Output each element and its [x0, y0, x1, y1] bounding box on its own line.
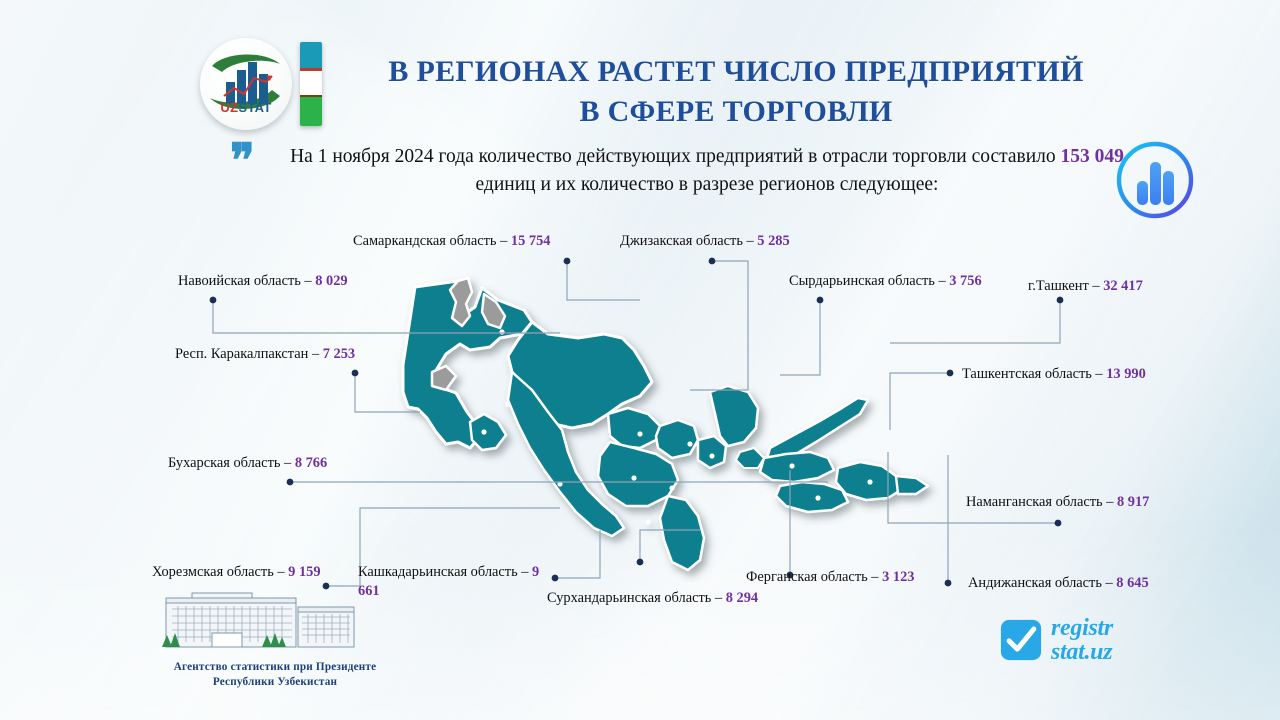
label-navoi-name: Навоийская область: [178, 273, 301, 289]
label-tashkent-region-name: Ташкентская область: [962, 366, 1092, 382]
label-namangan-dash: –: [1103, 494, 1117, 510]
label-khorezm-dash: –: [274, 564, 288, 580]
label-surkhandarya-name: Сурхандарьинская область: [547, 590, 711, 606]
connector-dot-jizzakh: [709, 258, 716, 265]
label-andijan-name: Андижанская область: [968, 575, 1102, 591]
label-tashkent-city-name: г.Ташкент: [1028, 278, 1089, 294]
label-tashkent-city-dash: –: [1089, 278, 1103, 294]
label-fergana-value: 3 123: [882, 569, 914, 585]
map-region-jizzakh: [656, 420, 698, 458]
agency-building-icon: [150, 585, 400, 653]
map-region-eastern-tip: [896, 476, 928, 494]
label-jizzakh-name: Джизакская область: [620, 233, 743, 249]
map-region-syrdarya: [698, 436, 726, 468]
page-title-line-2: В СФЕРЕ ТОРГОВЛИ: [336, 92, 1136, 132]
label-andijan-value: 8 645: [1116, 575, 1148, 591]
connector-dot-bukhara: [287, 479, 294, 486]
uzstat-logo-text-stat: STAT: [238, 100, 271, 115]
label-andijan-dash: –: [1102, 575, 1116, 591]
map-region-samarkand: [608, 408, 660, 448]
label-tashkent-city-value: 32 417: [1103, 278, 1143, 294]
flag-stripe-blue: [300, 42, 322, 68]
label-khorezm-name: Хорезмская область: [152, 564, 274, 580]
label-syrdarya: Сырдарьинская область – 3 756: [789, 272, 982, 291]
subtitle-text: На 1 ноября 2024 года количество действу…: [230, 143, 1140, 199]
subtitle-part-2: единиц и их количество в разрезе регионо…: [476, 174, 939, 195]
label-kashkadarya-dash: –: [518, 564, 532, 580]
label-syrdarya-value: 3 756: [949, 273, 981, 289]
checkmark-icon: [1000, 619, 1042, 661]
label-bukhara-name: Бухарская область: [168, 455, 280, 471]
label-tashkent-city: г.Ташкент – 32 417: [1028, 277, 1143, 296]
label-syrdarya-dash: –: [935, 273, 949, 289]
uzstat-logo-text-uz: UZ: [220, 100, 238, 115]
label-samarkand: Самаркандская область – 15 754: [353, 232, 550, 251]
label-samarkand-dash: –: [497, 233, 511, 249]
label-namangan: Наманганская область – 8 917: [966, 493, 1149, 512]
label-jizzakh-dash: –: [743, 233, 757, 249]
label-bukhara-value: 8 766: [295, 455, 327, 471]
label-karakalpakstan-value: 7 253: [323, 346, 355, 362]
label-fergana: Ферганская область – 3 123: [746, 568, 914, 587]
uzstat-logo-icon: [200, 38, 292, 130]
label-jizzakh: Джизакская область – 5 285: [620, 232, 790, 251]
label-bukhara: Бухарская область – 8 766: [168, 454, 327, 473]
label-khorezm: Хорезмская область – 9 159: [152, 563, 321, 582]
uzstat-logo-disc: [200, 38, 292, 130]
registrstat-logo[interactable]: registr stat.uz: [1000, 616, 1113, 665]
label-surkhandarya-dash: –: [711, 590, 725, 606]
map-region-tashkent-city: [736, 448, 764, 468]
map-region-fergana: [776, 482, 848, 512]
agency-caption: Агентство статистики при Президенте Респ…: [150, 660, 400, 690]
map-region-surkhandarya: [660, 496, 704, 570]
agency-logo-block: Агентство статистики при Президенте Респ…: [150, 585, 400, 690]
registrstat-line-1: registr: [1051, 616, 1113, 640]
registrstat-text: registr stat.uz: [1051, 616, 1113, 665]
flag-stripe-white: [300, 71, 322, 95]
uzstat-logo: UZSTAT: [200, 38, 292, 130]
page-title: В РЕГИОНАХ РАСТЕТ ЧИСЛО ПРЕДПРИЯТИЙ В СФ…: [336, 52, 1136, 132]
label-namangan-value: 8 917: [1117, 494, 1149, 510]
label-navoi: Навоийская область – 8 029: [178, 272, 348, 291]
label-jizzakh-value: 5 285: [757, 233, 789, 249]
label-samarkand-name: Самаркандская область: [353, 233, 497, 249]
agency-caption-line-2: Республики Узбекистан: [150, 675, 400, 690]
label-khorezm-value: 9 159: [288, 564, 320, 580]
connector-dot-samarkand: [564, 258, 571, 265]
label-andijan: Андижанская область – 8 645: [968, 574, 1149, 593]
label-surkhandarya-value: 8 294: [726, 590, 758, 606]
label-bukhara-dash: –: [280, 455, 294, 471]
map-region-khorezm: [470, 414, 506, 450]
label-namangan-name: Наманганская область: [966, 494, 1103, 510]
page-title-line-1: В РЕГИОНАХ РАСТЕТ ЧИСЛО ПРЕДПРИЯТИЙ: [336, 52, 1136, 92]
label-karakalpakstan-dash: –: [308, 346, 322, 362]
subtitle-block: ❞ На 1 ноября 2024 года количество дейст…: [230, 143, 1140, 199]
label-fergana-dash: –: [868, 569, 882, 585]
bar-chart-badge-icon: [1112, 137, 1198, 223]
uzbekistan-map: [372, 272, 972, 582]
label-fergana-name: Ферганская область: [746, 569, 868, 585]
label-samarkand-value: 15 754: [511, 233, 551, 249]
map-region-tashkent: [710, 386, 758, 446]
connector-dot-namangan: [1055, 520, 1062, 527]
label-kashkadarya-name: Кашкадарьинская область: [358, 564, 518, 580]
label-tashkent-region: Ташкентская область – 13 990: [962, 365, 1146, 384]
label-syrdarya-name: Сырдарьинская область: [789, 273, 935, 289]
map-aral-lobe: [432, 366, 456, 390]
map-region-namangan-body: [760, 452, 834, 482]
label-surkhandarya: Сурхандарьинская область – 8 294: [547, 589, 758, 608]
label-navoi-dash: –: [301, 273, 315, 289]
label-karakalpakstan: Респ. Каракалпакстан – 7 253: [175, 345, 355, 364]
label-tashkent-region-value: 13 990: [1106, 366, 1146, 382]
subtitle-part-1: На 1 ноября 2024 года количество действу…: [290, 146, 1060, 167]
uzbekistan-map-svg: [372, 272, 972, 582]
connector-dot-karakalpakstan: [352, 370, 359, 377]
uzbekistan-flag-icon: [300, 42, 322, 126]
registrstat-line-2: stat.uz: [1051, 640, 1113, 664]
label-karakalpakstan-name: Респ. Каракалпакстан: [175, 346, 308, 362]
flag-stripe-green: [300, 97, 322, 126]
connector-dot-tashkent-city: [1057, 297, 1064, 304]
connector-dot-navoi: [210, 297, 217, 304]
agency-caption-line-1: Агентство статистики при Президенте: [150, 660, 400, 675]
label-tashkent-region-dash: –: [1092, 366, 1106, 382]
quote-icon: ❞: [230, 145, 255, 177]
label-navoi-value: 8 029: [315, 273, 347, 289]
